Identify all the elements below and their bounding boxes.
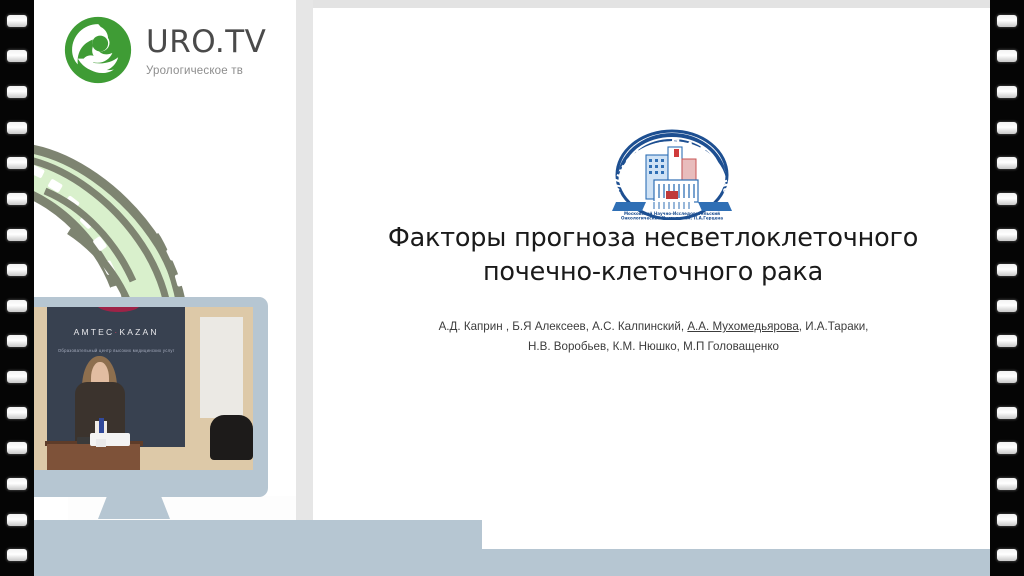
film-sprocket-hole — [7, 407, 27, 419]
brand-title: URO.TV — [146, 27, 266, 58]
film-sprocket-hole — [7, 122, 27, 134]
film-sprocket-hole — [7, 335, 27, 347]
film-sprocket-hole — [997, 157, 1017, 169]
film-sprocket-hole — [997, 300, 1017, 312]
brand-lockup: URO.TV Урологическое тв — [62, 14, 266, 86]
film-sprocket-hole — [997, 442, 1017, 454]
authors-line-1: А.Д. Каприн , Б.Я Алексеев, А.С. Калпинс… — [401, 317, 906, 337]
banner-title-text: AMTEC·KAZAN — [74, 327, 159, 337]
film-sprocket-hole — [997, 549, 1017, 561]
slide-title: Факторы прогноза несветлоклеточного поче… — [373, 222, 933, 289]
film-sprocket-hole — [997, 50, 1017, 62]
authors-line-1-post: , И.А.Тараки, — [799, 320, 869, 333]
authors-line-1-pre: А.Д. Каприн , Б.Я Алексеев, А.С. Калпинс… — [439, 320, 688, 333]
film-sprocket-hole — [997, 371, 1017, 383]
svg-text:Онкологический Институт им. П.: Онкологический Институт им. П.А.Герцена — [621, 215, 723, 220]
slide-title-line-2: почечно-клеточного рака — [373, 256, 933, 290]
slide-title-line-1: Факторы прогноза несветлоклеточного — [373, 222, 933, 256]
film-strip-left — [0, 0, 34, 576]
video-speaker-badge — [96, 439, 106, 447]
film-sprocket-hole — [997, 122, 1017, 134]
film-strip-curve-graphic-icon — [34, 95, 296, 330]
video-banner-title: AMTEC·KAZAN — [47, 327, 185, 337]
bottom-bar-left-extension — [0, 520, 482, 549]
film-sprocket-hole — [7, 15, 27, 27]
film-sprocket-hole — [997, 229, 1017, 241]
film-sprocket-hole — [7, 478, 27, 490]
monitor-stand — [98, 497, 170, 519]
panel-gutter — [296, 0, 313, 576]
film-sprocket-hole — [7, 549, 27, 561]
film-sprocket-hole — [7, 86, 27, 98]
video-chair — [210, 415, 253, 461]
film-sprocket-hole — [997, 335, 1017, 347]
film-sprocket-hole — [997, 478, 1017, 490]
bottom-bar — [0, 549, 1024, 576]
film-sprocket-hole — [997, 86, 1017, 98]
slide-authors: А.Д. Каприн , Б.Я Алексеев, А.С. Калпинс… — [401, 317, 906, 358]
speaker-video-player[interactable]: AMTEC·KAZAN Образовательный центр высоки… — [2, 297, 268, 497]
film-sprocket-hole — [997, 15, 1017, 27]
film-strip-right — [990, 0, 1024, 576]
authors-line-2: Н.В. Воробьев, К.М. Нюшко, М.П Головащен… — [401, 337, 906, 357]
film-sprocket-hole — [997, 407, 1017, 419]
film-sprocket-hole — [7, 50, 27, 62]
film-sprocket-hole — [7, 264, 27, 276]
film-sprocket-hole — [7, 514, 27, 526]
video-podium — [47, 444, 140, 470]
authors-presenter: А.А. Мухомедьярова — [687, 320, 798, 333]
film-sprocket-hole — [997, 193, 1017, 205]
brand-text-block: URO.TV Урологическое тв — [146, 23, 266, 77]
video-viewport[interactable]: AMTEC·KAZAN Образовательный центр высоки… — [2, 307, 253, 470]
film-sprocket-hole — [7, 300, 27, 312]
video-player-stage: URO.TV Урологическое тв — [0, 0, 1024, 576]
film-sprocket-hole — [7, 157, 27, 169]
film-sprocket-hole — [7, 193, 27, 205]
film-sprocket-hole — [7, 229, 27, 241]
video-banner-subtitle: Образовательный центр высоких медицински… — [47, 348, 185, 355]
film-sprocket-hole — [7, 442, 27, 454]
brand-subtitle: Урологическое тв — [146, 65, 266, 77]
video-flipchart — [200, 317, 243, 418]
film-sprocket-hole — [7, 371, 27, 383]
presentation-slide: МНИОИ им. П.А.Герцена — [313, 8, 991, 549]
slide-top-band — [313, 0, 993, 8]
film-sprocket-hole — [997, 264, 1017, 276]
mnioi-gertsen-emblem-icon: МНИОИ им. П.А.Герцена — [606, 125, 738, 220]
uro-tv-aperture-logo-icon — [62, 14, 134, 86]
film-sprocket-hole — [997, 514, 1017, 526]
